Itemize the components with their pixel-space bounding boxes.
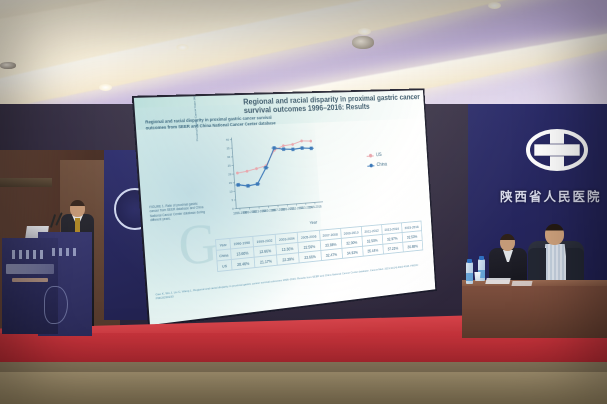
chart-point-china (245, 184, 250, 188)
table-cell: 22.39% (277, 253, 300, 266)
legend-item-us: US (366, 152, 386, 159)
chart-x-tick-label: 2015-2016 (308, 205, 321, 210)
table-cell: 34.93% (342, 246, 363, 258)
chart-y-tick-label: 5 (231, 198, 233, 202)
table-cell: 23.66% (299, 251, 321, 263)
speaker-head (70, 200, 85, 217)
lighting-truss (0, 178, 52, 187)
podium-logo-icon (12, 250, 46, 259)
projection-screen: G Regional and racial disparity in proxi… (132, 88, 437, 327)
chart-point-china (290, 148, 295, 152)
legend-marker-china (367, 164, 374, 168)
chart-series-line-us (235, 140, 312, 173)
chart-point-us (246, 170, 249, 173)
podium-banner-subtext (12, 278, 48, 282)
chart-point-china (255, 182, 260, 186)
bottle-label (466, 273, 473, 281)
panelist-2-head (545, 224, 564, 245)
document-paper (511, 281, 532, 286)
downlight-icon (358, 28, 371, 35)
table-cell: 36.88% (403, 240, 423, 252)
legend-marker-us (367, 154, 374, 158)
table-cell: 21.17% (254, 255, 277, 268)
chart-y-tick-label: 10 (229, 190, 233, 194)
chart-y-tick-label: 35 (226, 147, 230, 151)
podium-secondary-logo-icon (52, 248, 78, 256)
chart-point-us (291, 143, 294, 146)
chart-point-us (300, 139, 303, 142)
panelist-1-head (500, 234, 515, 251)
downlight-icon (488, 2, 501, 9)
document-paper (485, 278, 510, 284)
hospital-cross-icon (526, 128, 588, 172)
bottle-cap-icon (467, 259, 472, 263)
ceiling-spotlight-icon (0, 62, 16, 69)
chart-legend: US China (366, 152, 387, 173)
legend-item-china: China (367, 162, 387, 169)
chart-x-axis-label: Year (309, 220, 317, 225)
line-chart: 05101520253035401996-19981999-20022003-2… (208, 126, 421, 224)
chart-point-us (282, 144, 285, 147)
chart-y-tick-label: 15 (229, 181, 233, 185)
podium-banner-text (6, 264, 54, 274)
downlight-icon (99, 84, 112, 91)
chart-point-us (255, 167, 258, 170)
presentation-slide: G Regional and racial disparity in proxi… (134, 90, 435, 325)
bottle-cap-icon (479, 256, 484, 260)
table-cell: 37.23% (383, 242, 404, 254)
chart-y-tick-label: 0 (232, 207, 234, 211)
floor-foreground (0, 372, 607, 404)
right-banner-organization: 陕西省人民医院 (500, 186, 607, 208)
water-bottle (466, 262, 473, 284)
table-cell: 35.44% (362, 244, 383, 256)
conference-hall-photo: 陕西省人民医院 G Regional and racial disparity … (0, 0, 607, 404)
chart-point-china (309, 147, 314, 151)
chart-point-china (281, 147, 286, 151)
table-row-label: US (217, 259, 232, 271)
chart-point-us (309, 140, 312, 143)
table-cell: 20.46% (231, 257, 255, 270)
legend-label-china: China (376, 162, 387, 168)
panel-table (462, 286, 607, 338)
ceiling-spotlight-icon (352, 36, 374, 49)
downlight-icon (176, 44, 189, 51)
chart-point-us (236, 172, 239, 175)
chart-point-china (235, 183, 241, 187)
screen-frame: G Regional and racial disparity in proxi… (132, 88, 437, 327)
chart-point-china (299, 146, 304, 150)
table-cell: 32.47% (320, 248, 342, 260)
legend-label-us: US (376, 152, 382, 158)
slide-watermark-letter: G (176, 210, 219, 279)
chart-y-tick-label: 30 (227, 155, 231, 159)
chart-series-line-china (236, 146, 314, 186)
chart-y-tick-label: 40 (226, 138, 230, 142)
chart-y-tick-label: 20 (228, 172, 232, 176)
chart-canvas: 05101520253035401996-19981999-20022003-2… (208, 126, 421, 224)
chart-y-tick-label: 25 (228, 164, 232, 168)
